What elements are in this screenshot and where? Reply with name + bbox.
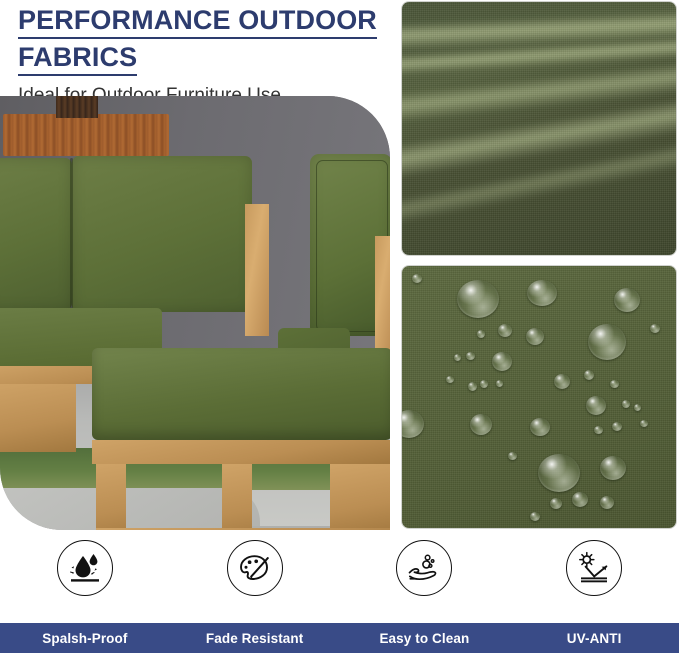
fabric-weave-swatch [402,2,676,255]
water-droplet [588,324,626,360]
photo-wood-bottom-rail [96,528,390,530]
water-droplet [526,328,544,345]
water-droplet [508,452,517,460]
water-droplet [640,420,648,427]
water-droplet [550,498,562,509]
hand-bubbles-icon [396,540,452,596]
water-droplet [402,410,424,438]
header: PERFORMANCE OUTDOOR FABRICS Ideal for Ou… [18,0,390,108]
water-droplet [477,330,485,338]
feature-icon-cell-uv-anti [509,540,679,616]
feature-icon-cell-easy-to-clean [340,540,510,616]
water-droplet [622,400,630,408]
hero-furniture-photo [0,96,390,530]
water-droplet [454,354,461,361]
photo-wood-base-left [0,384,76,452]
water-droplet [610,380,619,388]
photo-cushion-seam [70,158,73,310]
photo-concrete-slab [0,488,260,530]
page-title-line-2: FABRICS [18,42,137,76]
water-droplet [612,422,622,431]
water-droplet [584,370,594,380]
feature-icon-cell-fade-resistant [170,540,340,616]
water-droplet [498,324,512,337]
feature-label-bar: Spalsh-Proof Fade Resistant Easy to Clea… [0,623,679,653]
photo-back-cushion-left [0,158,72,310]
photo-wood-arm-post-right [375,236,390,356]
page-title-line-1: PERFORMANCE OUTDOOR [18,5,377,39]
water-droplet [538,454,580,492]
water-droplet [446,376,454,383]
water-droplet [470,414,492,435]
water-droplet [650,324,660,333]
feature-label-fade-resistant: Fade Resistant [170,631,340,646]
water-droplet [594,426,603,434]
water-droplet [468,382,477,391]
photo-back-cushion-center [72,156,252,312]
photo-wood-leg-left [96,464,126,530]
photo-wood-leg-mid [222,464,252,530]
photo-wood-arm-post [245,204,269,336]
water-droplet [634,404,641,411]
water-droplet [554,374,570,389]
water-droplet [496,380,503,387]
feature-label-easy-to-clean: Easy to Clean [340,631,510,646]
feature-icons-row [0,540,679,616]
feature-icon-cell-splash-proof [0,540,170,616]
photo-wood-leg-right [330,464,390,530]
water-droplet [614,288,640,312]
water-droplet [457,280,499,318]
water-droplet [530,512,540,521]
water-droplet [466,352,475,360]
sun-uv-reflect-icon [566,540,622,596]
feature-label-splash-proof: Spalsh-Proof [0,631,170,646]
paint-palette-icon [227,540,283,596]
photo-seat-cushion-front [92,348,390,440]
water-droplet [586,396,606,415]
water-droplet [492,352,512,371]
photo-wood-sideboard [3,114,169,156]
water-beading-swatch [402,266,676,528]
water-droplet [480,380,488,388]
water-droplet [572,492,588,507]
water-drop-repel-icon [57,540,113,596]
water-droplet [527,280,557,306]
photo-wood-frame-front [92,440,390,464]
water-droplet [600,456,626,480]
feature-label-uv-anti: UV-ANTI [509,631,679,646]
water-droplet [600,496,614,509]
product-feature-infographic: PERFORMANCE OUTDOOR FABRICS Ideal for Ou… [0,0,679,658]
water-droplet [412,274,422,283]
photo-dark-wood-accent [56,96,98,118]
water-droplet [530,418,550,436]
